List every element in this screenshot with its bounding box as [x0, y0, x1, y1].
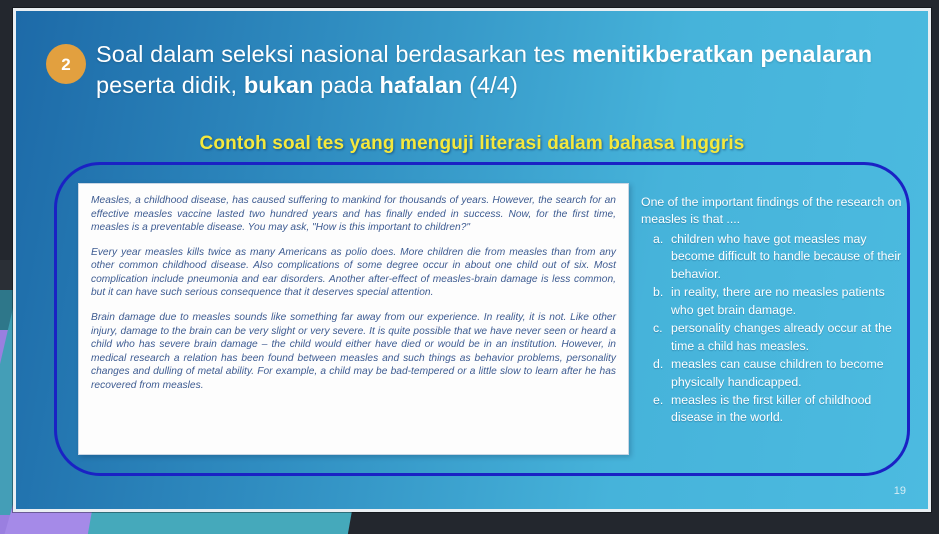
answer-option-letter: b.: [641, 284, 671, 319]
passage-paragraph: Brain damage due to measles sounds like …: [91, 311, 616, 392]
answer-option-a[interactable]: a.children who have got measles may beco…: [641, 231, 903, 283]
answer-option-c[interactable]: c.personality changes already occur at t…: [641, 320, 903, 355]
answer-option-text: personality changes already occur at the…: [671, 320, 903, 355]
slide-frame: 2 Soal dalam seleksi nasional berdasarka…: [13, 8, 931, 512]
answer-option-text: children who have got measles may become…: [671, 231, 903, 283]
page-title-run-3: bukan: [244, 72, 314, 98]
answer-option-text: measles is the first killer of childhood…: [671, 392, 903, 427]
page-title-run-4: pada: [314, 72, 380, 98]
answer-option-b[interactable]: b.in reality, there are no measles patie…: [641, 284, 903, 319]
reading-passage-card: Measles, a childhood disease, has caused…: [78, 183, 629, 455]
page-title-run-0: Soal dalam seleksi nasional berdasarkan …: [96, 41, 572, 67]
question-panel: One of the important findings of the res…: [641, 194, 903, 428]
page-title-run-2: peserta didik,: [96, 72, 244, 98]
answer-option-e[interactable]: e.measles is the first killer of childho…: [641, 392, 903, 427]
question-stem: One of the important findings of the res…: [641, 194, 903, 229]
answer-option-letter: d.: [641, 356, 671, 391]
answer-options-list: a.children who have got measles may beco…: [641, 231, 903, 427]
page-number: 19: [894, 485, 906, 497]
slide-subtitle: Contoh soal tes yang menguji literasi da…: [16, 133, 928, 155]
answer-option-d[interactable]: d.measles can cause children to become p…: [641, 356, 903, 391]
page-title-run-1: menitikberatkan penalaran: [572, 41, 872, 67]
page-title-run-5: hafalan: [379, 72, 462, 98]
passage-paragraph: Measles, a childhood disease, has caused…: [91, 194, 616, 235]
answer-option-text: measles can cause children to become phy…: [671, 356, 903, 391]
page-title: Soal dalam seleksi nasional berdasarkan …: [96, 39, 888, 101]
slide-canvas: 2 Soal dalam seleksi nasional berdasarka…: [16, 11, 928, 509]
answer-option-letter: a.: [641, 231, 671, 283]
page-title-run-6: (4/4): [462, 72, 517, 98]
answer-option-letter: e.: [641, 392, 671, 427]
answer-option-text: in reality, there are no measles patient…: [671, 284, 903, 319]
passage-paragraph: Every year measles kills twice as many A…: [91, 246, 616, 300]
answer-option-letter: c.: [641, 320, 671, 355]
slide-header: 2 Soal dalam seleksi nasional berdasarka…: [16, 11, 928, 116]
slide-number-badge: 2: [46, 44, 86, 84]
